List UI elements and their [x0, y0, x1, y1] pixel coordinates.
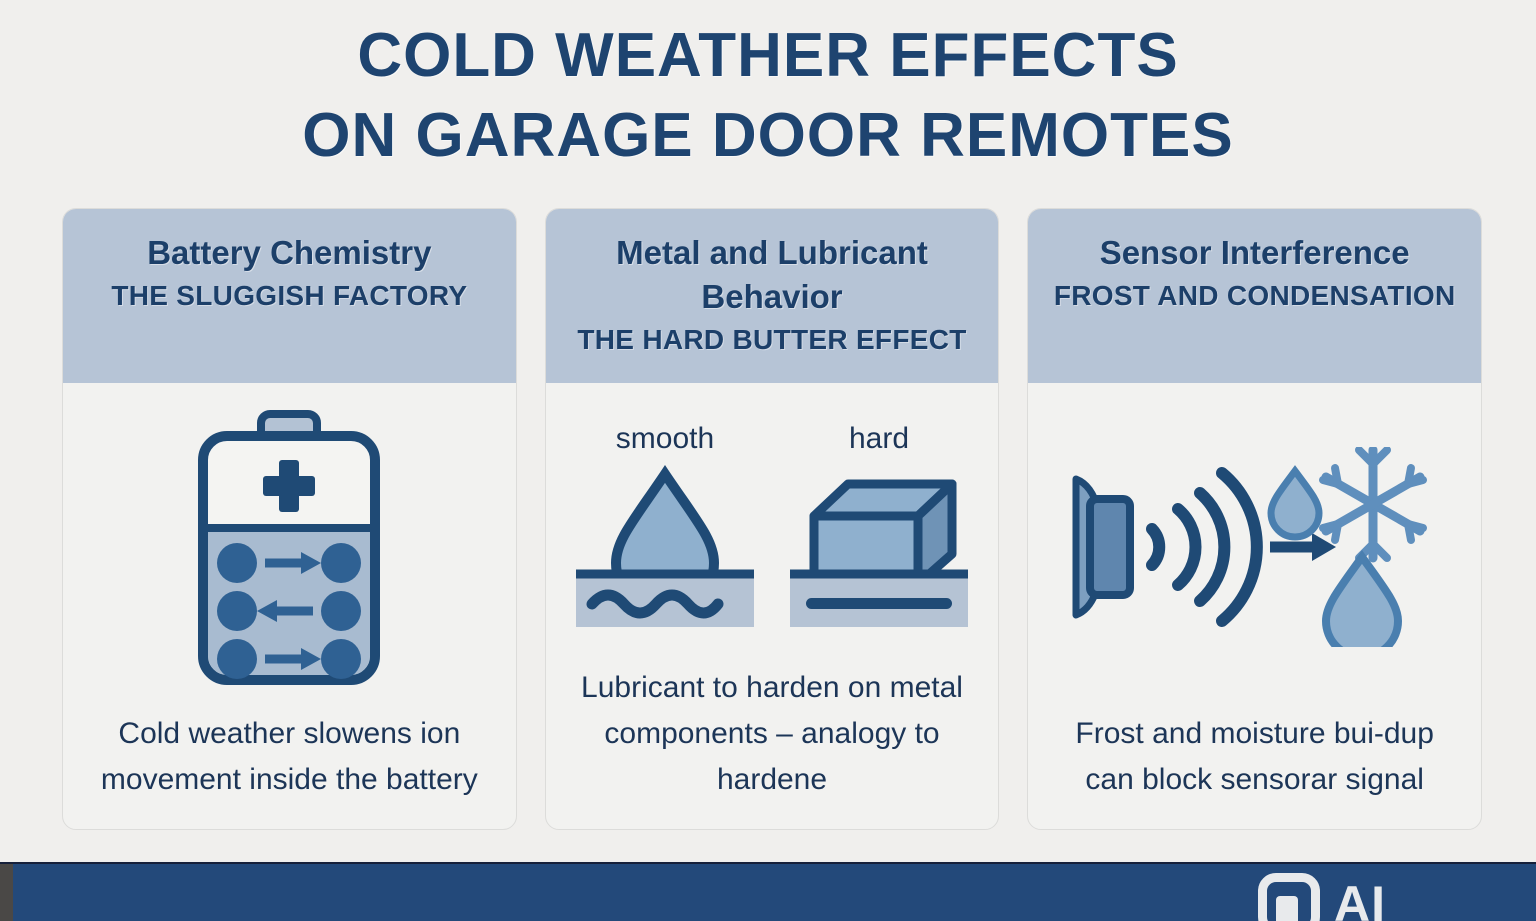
card-visual: smooth hard [546, 383, 999, 665]
card-visual [1028, 383, 1481, 711]
signal-frost-icon [1060, 447, 1450, 647]
cards-row: Battery Chemistry THE SLUGGISH FACTORY [62, 208, 1482, 830]
card-header: Sensor Interference FROST AND CONDENSATI… [1028, 209, 1481, 383]
card-body-text: Frost and moisture bui-dup can block sen… [1028, 711, 1481, 829]
card-title: Metal and Lubricant Behavior [560, 231, 985, 319]
brand-text: AI [1334, 875, 1386, 921]
card-battery-chemistry[interactable]: Battery Chemistry THE SLUGGISH FACTORY [62, 208, 517, 830]
hard-group: hard [790, 422, 968, 627]
card-title: Sensor Interference [1100, 231, 1410, 275]
page-title: COLD WEATHER EFFECTS ON GARAGE DOOR REMO… [0, 0, 1536, 176]
brand-logo[interactable]: AI [1258, 873, 1386, 921]
card-header: Battery Chemistry THE SLUGGISH FACTORY [63, 209, 516, 383]
hard-block-on-surface-icon [790, 462, 968, 627]
footer-left-edge [0, 864, 13, 921]
card-subtitle: FROST AND CONDENSATION [1054, 275, 1456, 317]
card-subtitle: THE HARD BUTTER EFFECT [577, 319, 966, 361]
smooth-group: smooth [576, 422, 754, 627]
hard-label: hard [849, 422, 909, 456]
card-body-text: Cold weather slowens ion movement inside… [63, 711, 516, 829]
page-title-line-1: COLD WEATHER EFFECTS [0, 16, 1536, 96]
card-visual [63, 383, 516, 711]
smooth-label: smooth [616, 422, 714, 456]
card-sensor-interference[interactable]: Sensor Interference FROST AND CONDENSATI… [1027, 208, 1482, 830]
card-title: Battery Chemistry [147, 231, 431, 275]
rounded-r-logo-icon [1258, 873, 1320, 921]
page-title-line-2: ON GARAGE DOOR REMOTES [0, 96, 1536, 176]
card-body-text: Lubricant to harden on metal components … [546, 665, 999, 829]
footer-bar: AI [0, 862, 1536, 921]
smooth-vs-hard-comparison: smooth hard [556, 422, 989, 627]
droplet-on-surface-icon [576, 462, 754, 627]
card-subtitle: THE SLUGGISH FACTORY [111, 275, 467, 317]
battery-ion-icon [189, 410, 389, 685]
card-header: Metal and Lubricant Behavior THE HARD BU… [546, 209, 999, 383]
card-metal-and-lubricant-behavior[interactable]: Metal and Lubricant Behavior THE HARD BU… [545, 208, 1000, 830]
